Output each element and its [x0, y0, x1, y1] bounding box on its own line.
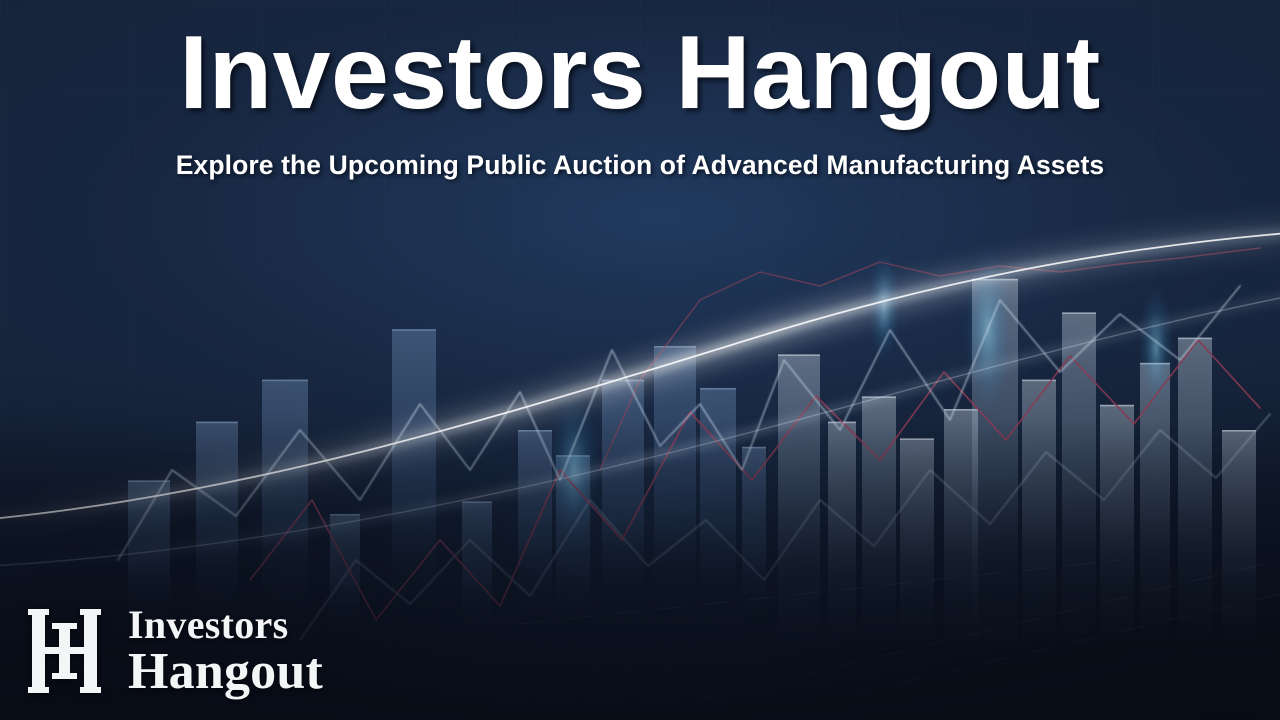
chart-bar: [462, 501, 492, 640]
chart-bar: [742, 447, 766, 640]
chart-bar: [1178, 338, 1212, 640]
chart-bar-cap: [654, 346, 696, 348]
chart-bar-cap: [518, 430, 552, 432]
chart-bar: [1100, 405, 1134, 640]
chart-bar-cap: [262, 380, 308, 382]
chart-bar-cap: [196, 422, 238, 424]
ih-monogram-icon: [28, 605, 114, 697]
chart-bar-cap: [392, 329, 436, 331]
logo-line-investors: Investors: [128, 605, 323, 644]
page-title: Investors Hangout: [0, 18, 1280, 128]
chart-bar: [1062, 312, 1096, 640]
logo-line-hangout: Hangout: [128, 646, 323, 698]
chart-bar: [828, 422, 856, 640]
chart-bar-cap: [330, 514, 360, 516]
chart-bar-cap: [1062, 312, 1096, 314]
hero-banner: Investors Hangout Explore the Upcoming P…: [0, 0, 1280, 720]
chart-bar-cap: [900, 438, 934, 440]
chart-bar-cap: [128, 480, 170, 482]
banner-header: Investors Hangout Explore the Upcoming P…: [0, 18, 1280, 181]
chart-bar: [862, 396, 896, 640]
chart-bar-cap: [1222, 430, 1256, 432]
page-subtitle: Explore the Upcoming Public Auction of A…: [0, 150, 1280, 181]
chart-bar-cap: [778, 354, 820, 356]
brand-logo[interactable]: Investors Hangout: [28, 605, 323, 698]
chart-bar: [1222, 430, 1256, 640]
chart-bar-cap: [1178, 338, 1212, 340]
logo-wordmark: Investors Hangout: [128, 605, 323, 698]
chart-bar: [654, 346, 696, 640]
chart-bar: [518, 430, 552, 640]
chart-bar-cap: [700, 388, 736, 390]
chart-bar-cap: [742, 447, 766, 449]
chart-bar: [262, 380, 308, 640]
chart-bar: [1022, 380, 1056, 640]
chart-bar: [900, 438, 934, 640]
chart-bar: [700, 388, 736, 640]
chart-bar: [392, 329, 436, 640]
